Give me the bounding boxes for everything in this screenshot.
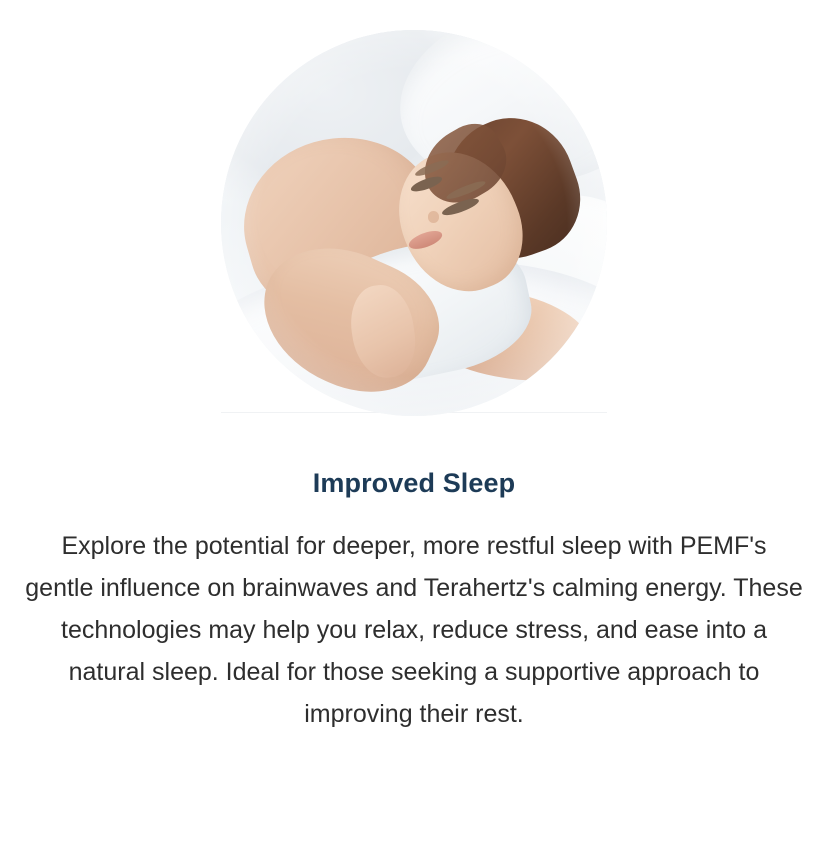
photo-scene xyxy=(221,30,607,416)
sleeping-woman-image xyxy=(221,30,607,416)
nose xyxy=(428,211,440,223)
feature-image-wrapper xyxy=(221,30,607,416)
feature-title: Improved Sleep xyxy=(313,467,515,499)
feature-description: Explore the potential for deeper, more r… xyxy=(24,525,804,735)
feature-card: Improved Sleep Explore the potential for… xyxy=(0,0,828,843)
